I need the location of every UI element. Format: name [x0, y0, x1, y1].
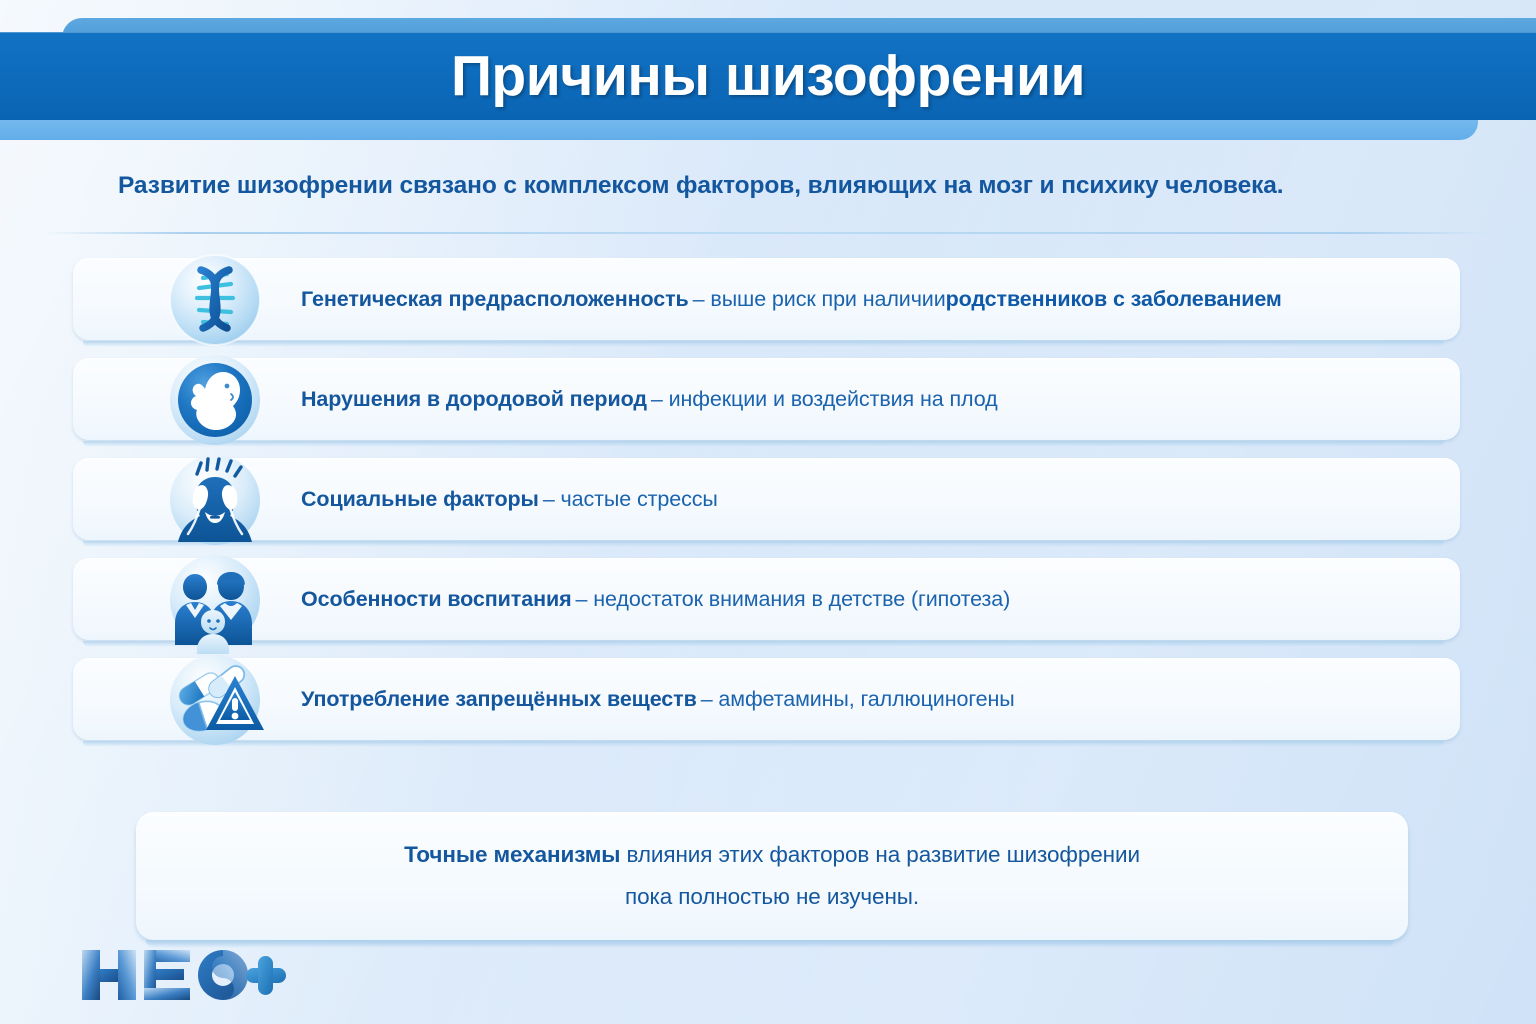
page-title: Причины шизофрении: [0, 32, 1536, 120]
factor-lead: Особенности воспитания: [301, 587, 572, 612]
factor-emphasis: родственников с заболеванием: [946, 287, 1282, 312]
factor-row-prenatal[interactable]: Нарушения в дородовой период – инфекции …: [73, 358, 1460, 440]
conclusion-line-1: Точные механизмы влияния этих факторов н…: [404, 842, 1140, 868]
intro-text: Развитие шизофрении связано с комплексом…: [118, 172, 1438, 200]
factor-rest: – частые стрессы: [543, 487, 718, 512]
factor-row-upbringing[interactable]: Особенности воспитания – недостаток вним…: [73, 558, 1460, 640]
conclusion-lead: Точные механизмы: [404, 842, 620, 867]
factor-rest: – амфетамины, галлюциногены: [701, 687, 1015, 712]
conclusion-line-2: пока полностью не изучены.: [625, 884, 919, 910]
factor-lead: Употребление запрещённых веществ: [301, 687, 697, 712]
factor-lead: Нарушения в дородовой период: [301, 387, 647, 412]
factor-text: Генетическая предрасположенность – выше …: [301, 258, 1440, 340]
conclusion-rest: влияния этих факторов на развитие шизофр…: [620, 842, 1140, 867]
factor-lead: Генетическая предрасположенность: [301, 287, 689, 312]
factor-list: Генетическая предрасположенность – выше …: [0, 258, 1536, 758]
intro-divider: [44, 232, 1492, 234]
factor-text: Употребление запрещённых веществ – амфет…: [301, 658, 1440, 740]
factor-rest: – недостаток внимания в детстве (гипотез…: [576, 587, 1011, 612]
conclusion-box: Точные механизмы влияния этих факторов н…: [136, 812, 1408, 940]
pills-warning-icon: [161, 646, 269, 754]
factor-rest: – инфекции и воздействия на плод: [651, 387, 998, 412]
infographic-poster: Причины шизофрении Развитие шизофрении с…: [0, 0, 1536, 1024]
factor-text: Нарушения в дородовой период – инфекции …: [301, 358, 1440, 440]
fetus-icon: [161, 346, 269, 454]
family-icon: [161, 546, 269, 654]
dna-icon: [161, 246, 269, 354]
factor-rest: – выше риск при наличии: [693, 287, 946, 312]
header: Причины шизофрении: [0, 0, 1536, 148]
factor-lead: Социальные факторы: [301, 487, 539, 512]
header-ledge-bottom: [0, 120, 1478, 140]
neo-plus-logo[interactable]: [78, 944, 288, 1006]
factor-text: Социальные факторы – частые стрессы: [301, 458, 1440, 540]
stress-head-icon: [161, 446, 269, 554]
factor-row-substances[interactable]: Употребление запрещённых веществ – амфет…: [73, 658, 1460, 740]
factor-row-social[interactable]: Социальные факторы – частые стрессы: [73, 458, 1460, 540]
factor-row-genetic[interactable]: Генетическая предрасположенность – выше …: [73, 258, 1460, 340]
factor-text: Особенности воспитания – недостаток вним…: [301, 558, 1440, 640]
